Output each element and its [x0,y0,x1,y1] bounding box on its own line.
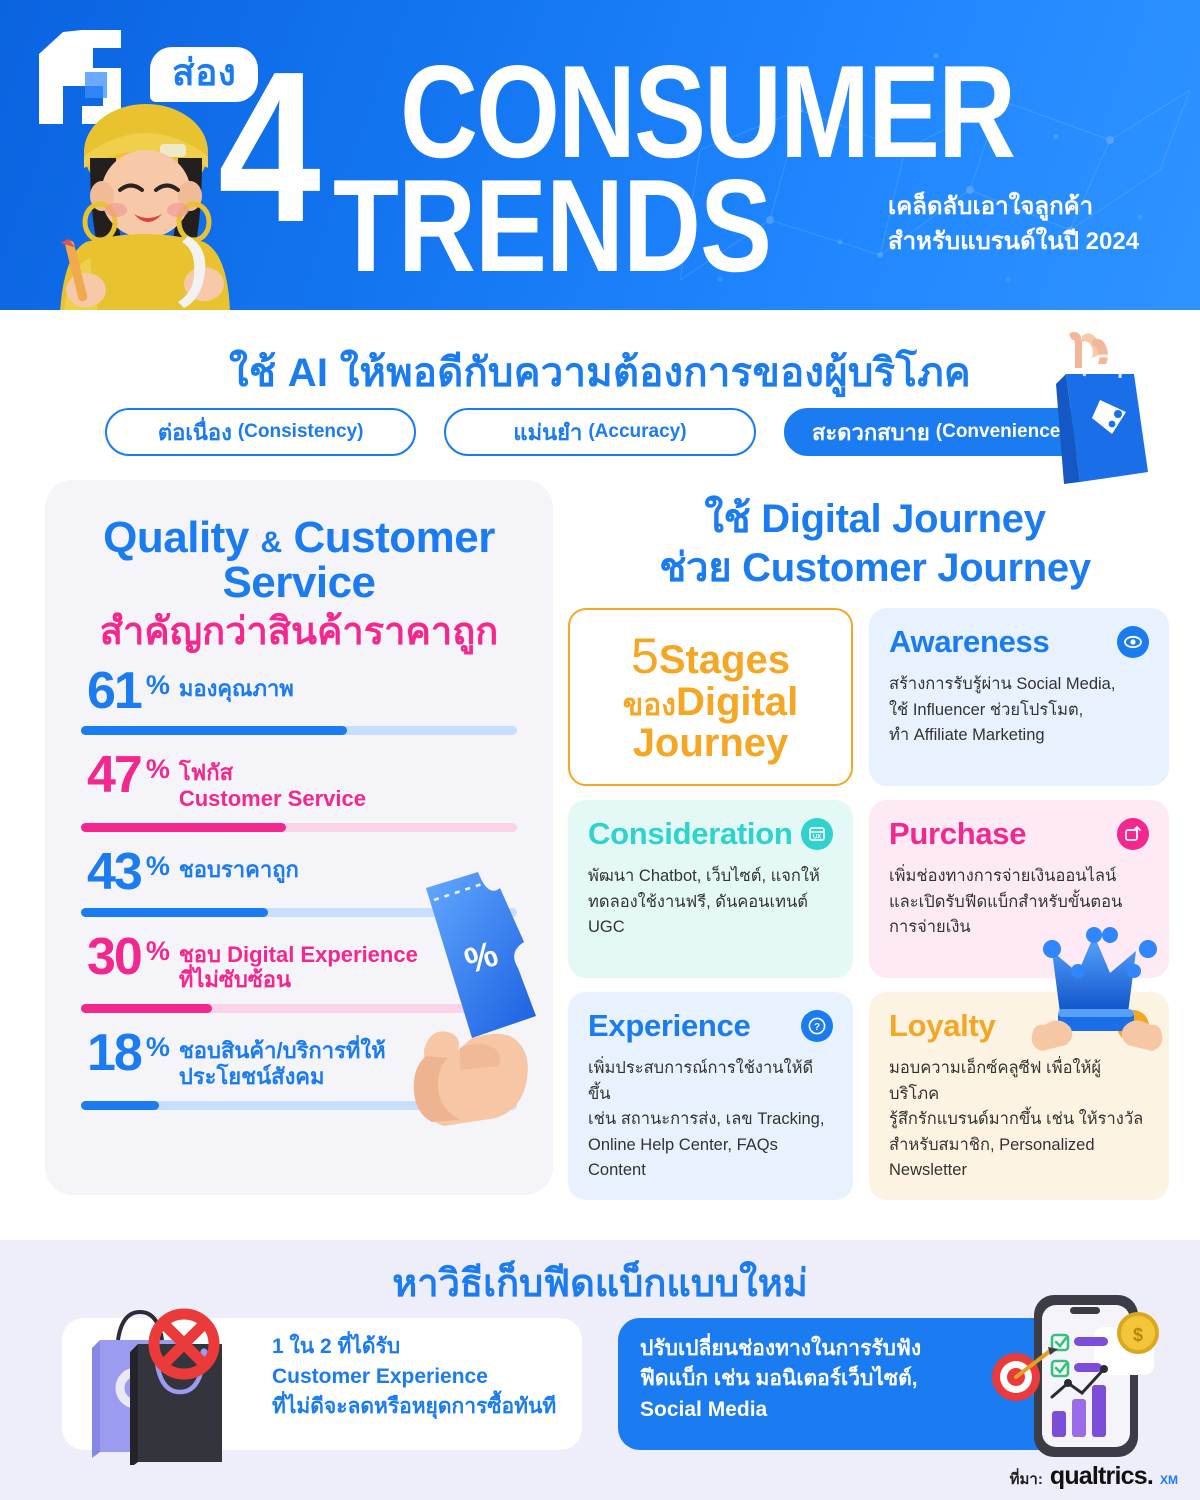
discount-coupon-3d-icon: % [390,870,553,1130]
stats-card-subheading: สำคัญกว่าสินค้าราคาถูก [57,612,541,654]
ai-pill-accuracy-th: แม่นยำ [513,415,582,450]
stat-label-61: มองคุณภาพ [179,676,294,702]
stats-heading-amp: & [261,526,282,559]
stat-value-47: 47 [87,752,141,800]
stages-number: 5 [631,628,659,684]
header-subtitle-line2: สำหรับแบรนด์ในปี 2024 [888,225,1139,260]
journey-title-experience: Experience [588,1010,750,1041]
journey-card-stages: 5Stages ของDigital Journey [568,608,853,786]
stat-value-61: 61 [87,668,141,716]
stat-row-61: 61 % มองคุณภาพ [81,668,517,736]
header-subtitle-line1: เคล็ดลับเอาใจลูกค้า [888,190,1139,225]
stat-value-30: 30 [87,934,141,982]
journey-card-consideration: Consideration UX พัฒนา Chatbot, เว็บไซต์… [568,800,853,978]
stat-label-47: โฟกัส Customer Service [179,760,366,811]
stat-bar-47 [81,823,517,832]
question-mark-icon: ? [801,1010,833,1042]
journey-title-awareness: Awareness [889,626,1049,657]
journey-title-line1: ใช้ Digital Journey [565,495,1185,544]
stages-word-stages: Stages [659,638,790,682]
ai-pill-row: ต่อเนื่อง (Consistency) แม่นยำ (Accuracy… [105,408,1095,456]
shopping-bags-blocked-3d-icon [72,1300,287,1465]
journey-card-awareness: Awareness สร้างการรับรู้ผ่าน Social Medi… [869,608,1169,786]
ai-pill-accuracy-en: (Accuracy) [588,421,686,443]
header-word-trends: TRENDS [333,160,771,292]
stat-label-18: ชอบสินค้า/บริการที่ให้ ประโยชน์สังคม [179,1038,386,1089]
stat-bar-fill-18 [81,1101,159,1110]
stat-row-47: 47 % โฟกัส Customer Service [81,752,517,831]
stages-line3: Journey [623,723,798,764]
ai-pill-consistency-en: (Consistency) [238,421,364,443]
stat-percent-18: % [146,1034,170,1061]
bottom-left-text: 1 ใน 2 ที่ได้รับ Customer Experience ที่… [272,1332,572,1421]
stat-value-43: 43 [87,849,141,897]
stats-card: Quality & Customer Service สำคัญกว่าสินค… [45,480,553,1195]
ai-pill-convenience-th: สะดวกสบาย [812,415,930,450]
ux-window-icon: UX [801,818,833,850]
journey-body-loyalty: มอบความเอ็กซ์คลูซีฟ เพื่อให้ผู้บริโภค รู… [889,1056,1149,1184]
ai-pill-consistency[interactable]: ต่อเนื่อง (Consistency) [105,408,416,456]
stages-line2: ของDigital [623,682,798,723]
source-brand: qualtrics. [1050,1462,1153,1491]
svg-text:?: ? [814,1022,820,1033]
source-credit: ที่มา: qualtrics. XM [1010,1462,1178,1491]
stages-line1: 5Stages [623,631,798,682]
stat-value-18: 18 [87,1030,141,1078]
stat-percent-30: % [146,938,170,965]
eye-icon [1117,626,1149,658]
phone-analytics-3d-icon: $ [990,1285,1170,1465]
stat-label-43: ชอบราคาถูก [179,857,299,883]
stat-bar-fill-30 [81,1004,212,1013]
stats-heading-service: Service [222,558,375,607]
journey-card-experience: Experience ? เพิ่มประสบการณ์การใช้งานให้… [568,992,853,1200]
journey-card-grid: 5Stages ของDigital Journey Awareness สร้… [568,608,1182,1200]
header-subtitle: เคล็ดลับเอาใจลูกค้า สำหรับแบรนด์ในปี 202… [888,190,1139,260]
stat-percent-61: % [146,672,170,699]
journey-body-consideration: พัฒนา Chatbot, เว็บไซต์, แจกให้ ทดลองใช้… [588,864,833,941]
svg-text:$: $ [1133,1325,1143,1345]
stat-percent-43: % [146,853,170,880]
stages-word-khong: ของ [623,689,676,722]
stats-card-heading: Quality & Customer Service [67,516,531,606]
character-illustration [28,72,288,310]
stat-bar-fill-43 [81,908,268,917]
ai-pill-consistency-th: ต่อเนื่อง [158,415,232,450]
journey-body-awareness: สร้างการรับรู้ผ่าน Social Media, ใช้ Inf… [889,672,1149,749]
ai-pill-accuracy[interactable]: แม่นยำ (Accuracy) [444,408,755,456]
journey-title-purchase: Purchase [889,818,1026,849]
bottom-right-text: ปรับเปลี่ยนช่องทางในการรับฟัง ฟีดแบ็ก เช… [640,1334,970,1425]
stat-bar-fill-61 [81,726,347,735]
svg-text:UX: UX [813,835,821,841]
journey-title-consideration: Consideration [588,818,793,849]
journey-title-loyalty: Loyalty [889,1010,995,1041]
journey-section-title: ใช้ Digital Journey ช่วย Customer Journe… [565,495,1185,593]
journey-body-experience: เพิ่มประสบการณ์การใช้งานให้ดีขึ้น เช่น ส… [588,1056,833,1184]
crown-3d-icon [1030,925,1190,1060]
stat-bar-fill-47 [81,823,286,832]
journey-title-line2: ช่วย Customer Journey [565,544,1185,593]
header-banner: ส่อง 4 CONSUMER TRENDS เคล็ดลับเอาใจลูกค… [0,0,1200,310]
stages-word-digital: Digital [676,680,798,724]
cart-upload-icon [1117,818,1149,850]
stats-heading-quality: Quality [103,513,249,562]
shopping-bag-3d-icon [1020,330,1170,490]
stat-percent-47: % [146,756,170,783]
stat-label-30: ชอบ Digital Experience ที่ไม่ซับซ้อน [179,942,418,993]
source-label: ที่มา: [1010,1467,1043,1491]
stages-text: 5Stages ของDigital Journey [623,631,798,764]
stats-heading-customer: Customer [293,513,494,562]
stat-bar-61 [81,726,517,735]
source-superscript: XM [1160,1473,1178,1487]
